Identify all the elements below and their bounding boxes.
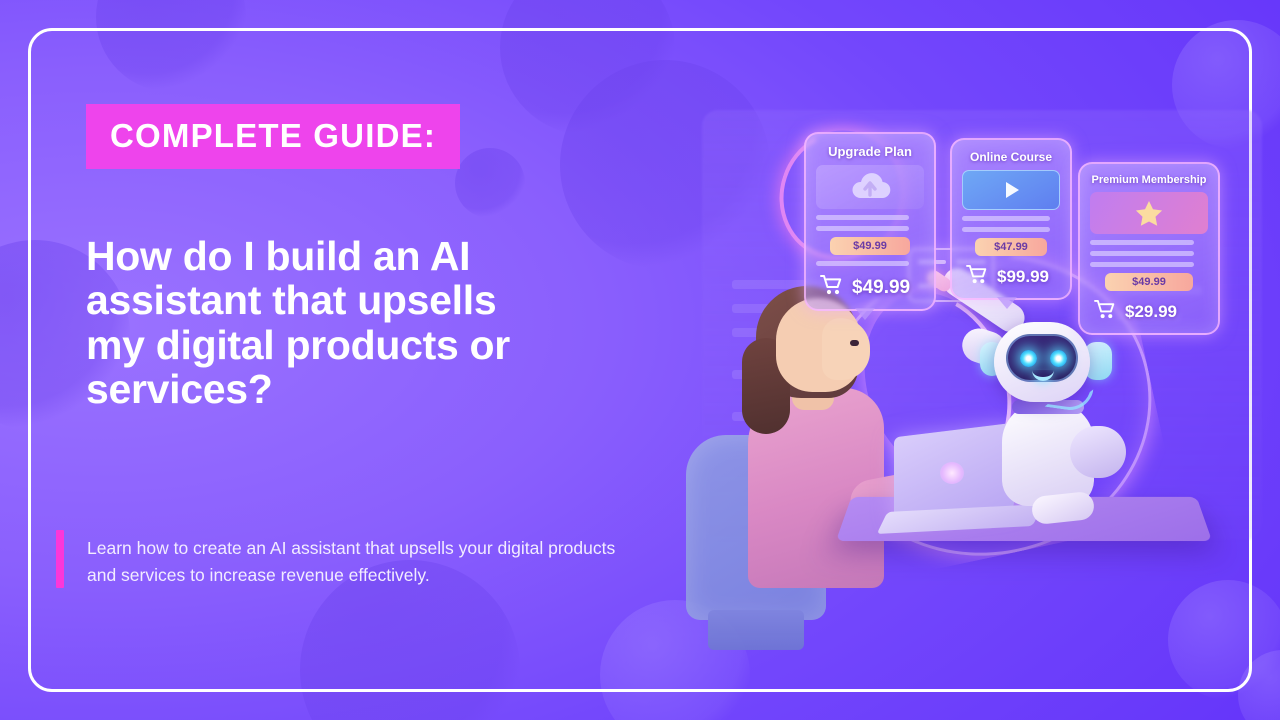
offer-card-line (1090, 240, 1194, 245)
offer-card-cart-price: $29.99 (1125, 302, 1177, 322)
offer-card-tail (855, 308, 875, 320)
accent-bar (56, 530, 64, 588)
robot-eye-right (1050, 350, 1067, 367)
offer-card-line (816, 261, 909, 266)
page-title: How do I build an AI assistant that upse… (86, 234, 516, 411)
person-eye (850, 340, 859, 346)
laptop-glow (940, 462, 964, 484)
illustration: Upgrade Plan $49.99 $49.99 (672, 90, 1272, 610)
offer-card-line (1090, 251, 1194, 256)
offer-card-badge-price: $47.99 (975, 238, 1048, 256)
offer-card-line (816, 215, 909, 220)
eyebrow-badge: COMPLETE GUIDE: (86, 104, 460, 169)
text-column: COMPLETE GUIDE: How do I build an AI ass… (86, 104, 646, 411)
robot-shoulder (1070, 426, 1126, 478)
subtitle-text: Learn how to create an AI assistant that… (87, 530, 635, 588)
offer-card-footer: $99.99 (962, 262, 1060, 290)
offer-card-line (816, 226, 909, 231)
offer-card-badge-price: $49.99 (1105, 273, 1192, 291)
offer-card-line (962, 227, 1050, 232)
shopping-cart-icon (1094, 299, 1117, 325)
offer-card-footer: $49.99 (816, 272, 924, 301)
robot-eye-left (1020, 350, 1037, 367)
offer-card-badge-price: $49.99 (830, 237, 910, 255)
offer-card-cart-price: $49.99 (852, 277, 910, 299)
offer-card-premium-membership[interactable]: Premium Membership $49.99 $29.99 (1078, 162, 1220, 335)
offer-card-footer: $29.99 (1090, 297, 1208, 325)
offer-card-title: Premium Membership (1090, 174, 1208, 186)
subtitle-block: Learn how to create an AI assistant that… (56, 530, 656, 588)
cloud-upload-icon (816, 165, 924, 209)
offer-card-line (962, 216, 1050, 221)
offer-card-upgrade-plan[interactable]: Upgrade Plan $49.99 $49.99 (804, 132, 936, 311)
offer-card-title: Online Course (962, 150, 1060, 164)
offer-card-line (1090, 262, 1194, 267)
offer-card-cart-price: $99.99 (997, 267, 1049, 287)
star-icon (1090, 192, 1208, 234)
play-icon (962, 170, 1060, 210)
guide-slide: COMPLETE GUIDE: How do I build an AI ass… (0, 0, 1280, 720)
offer-card-title: Upgrade Plan (816, 144, 924, 159)
shopping-cart-icon (820, 274, 844, 301)
shopping-cart-icon (966, 264, 989, 290)
offer-card-online-course[interactable]: Online Course $47.99 $99.99 (950, 138, 1072, 300)
bubble (96, 0, 246, 92)
offer-card-tail (997, 297, 1017, 309)
